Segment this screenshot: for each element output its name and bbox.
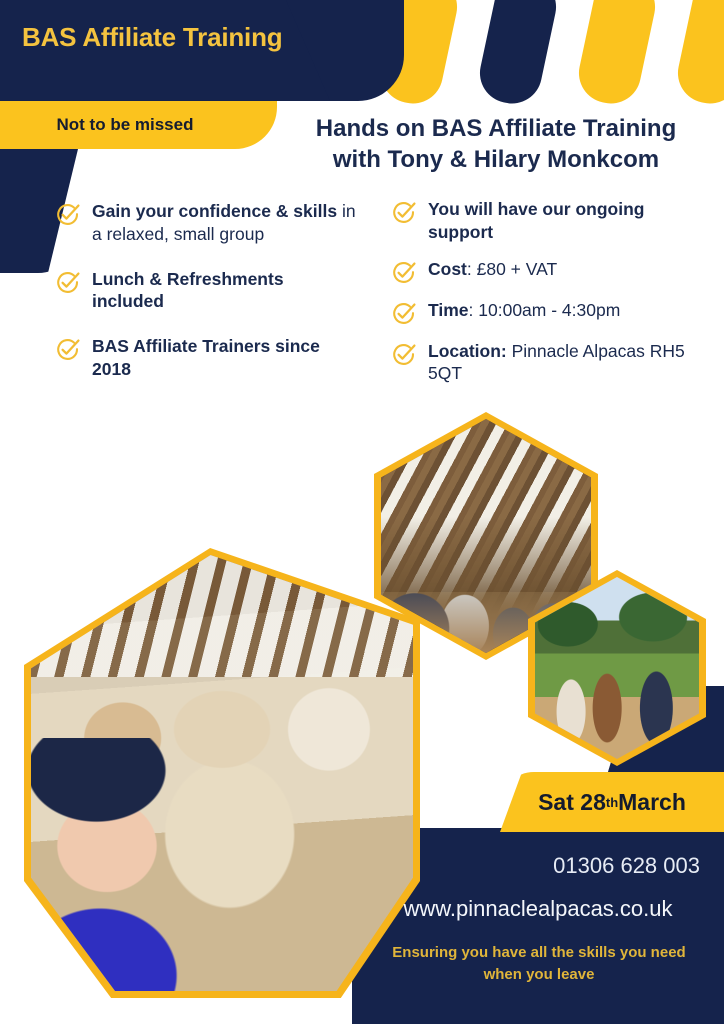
decorative-stripe-yellow-2 <box>573 0 660 109</box>
handler-field-photo <box>528 570 706 766</box>
bullet-text: Location: Pinnacle Alpacas RH5 5QT <box>428 340 710 386</box>
event-date-prefix: Sat 28 <box>538 789 606 816</box>
main-photo-clip <box>31 555 413 991</box>
check-circle-icon <box>392 343 416 367</box>
poster-canvas: BAS Affiliate Training Not to be missed … <box>0 0 724 1024</box>
bullet-bold-text: Cost <box>428 259 467 279</box>
not-to-be-missed-label: Not to be missed <box>0 101 250 149</box>
bullet-text: You will have our ongoing support <box>428 198 710 244</box>
bullet-item: BAS Affiliate Trainers since 2018 <box>56 335 356 381</box>
check-circle-icon <box>392 201 416 225</box>
details-column-right: You will have our ongoing supportCost: £… <box>392 198 710 399</box>
bullet-item: Lunch & Refreshments included <box>56 268 356 314</box>
bullet-item: Cost: £80 + VAT <box>392 258 710 285</box>
check-circle-icon <box>56 203 80 227</box>
bullet-item: Location: Pinnacle Alpacas RH5 5QT <box>392 340 710 386</box>
bullet-text: Cost: £80 + VAT <box>428 258 557 281</box>
check-circle-icon <box>56 271 80 295</box>
bullet-text: Gain your confidence & skills in a relax… <box>92 200 356 246</box>
alpaca-kiss-image <box>31 555 413 991</box>
main-heading-line-2: with Tony & Hilary Monkcom <box>276 145 716 176</box>
bullet-item: Time: 10:00am - 4:30pm <box>392 299 710 326</box>
contact-website[interactable]: www.pinnaclealpacas.co.uk <box>370 896 706 922</box>
bullet-bold-text: You will have our ongoing support <box>428 199 644 242</box>
bullet-bold-text: Gain your confidence & skills <box>92 201 337 221</box>
bullet-item: You will have our ongoing support <box>392 198 710 244</box>
event-date-ordinal-suffix: th <box>606 795 618 810</box>
bullet-rest-text: : £80 + VAT <box>467 259 557 279</box>
bullet-item: Gain your confidence & skills in a relax… <box>56 200 356 246</box>
alpaca-kiss-photo <box>24 548 420 998</box>
main-heading-line-1: Hands on BAS Affiliate Training <box>276 114 716 145</box>
bullet-bold-text: Lunch & Refreshments included <box>92 269 284 312</box>
bullet-bold-text: Location: <box>428 341 507 361</box>
bullet-bold-text: BAS Affiliate Trainers since 2018 <box>92 336 320 379</box>
bullet-rest-text: : 10:00am - 4:30pm <box>469 300 621 320</box>
check-circle-icon <box>392 302 416 326</box>
bullet-text: Time: 10:00am - 4:30pm <box>428 299 620 322</box>
main-heading: Hands on BAS Affiliate Training with Ton… <box>276 114 716 175</box>
check-circle-icon <box>392 261 416 285</box>
benefits-column-left: Gain your confidence & skills in a relax… <box>56 200 356 403</box>
decorative-stripe-yellow-3 <box>672 0 724 109</box>
bullet-text: Lunch & Refreshments included <box>92 268 356 314</box>
footer-tagline: Ensuring you have all the skills you nee… <box>380 942 698 986</box>
poster-title: BAS Affiliate Training <box>22 22 282 53</box>
decorative-stripe-navy <box>474 0 561 109</box>
event-date: Sat 28th March <box>500 772 724 832</box>
bullet-text: BAS Affiliate Trainers since 2018 <box>92 335 356 381</box>
contact-phone[interactable]: 01306 628 003 <box>384 853 700 879</box>
event-date-month: March <box>618 789 686 816</box>
bullet-bold-text: Time <box>428 300 469 320</box>
check-circle-icon <box>56 338 80 362</box>
